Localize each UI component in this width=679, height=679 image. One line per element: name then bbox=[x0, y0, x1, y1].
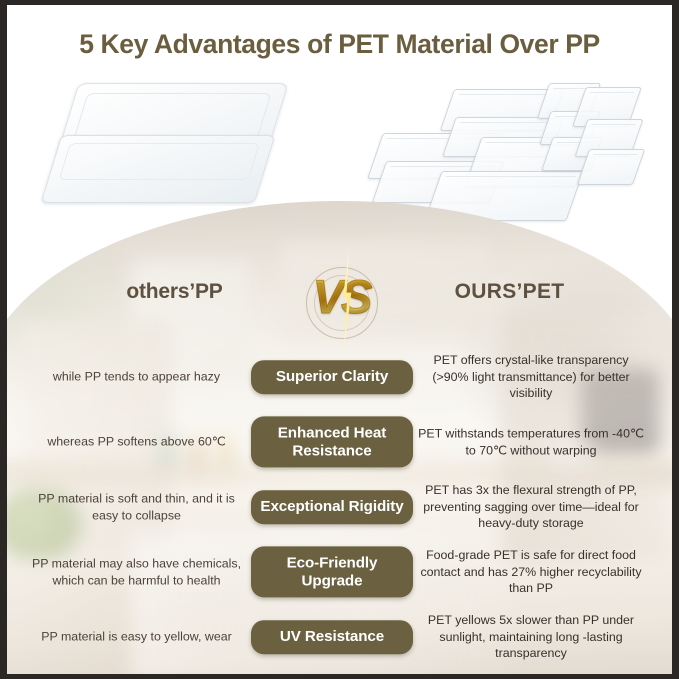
feature-pill-eco-friendly-upgrade[interactable]: Eco-Friendly Upgrade bbox=[251, 546, 413, 597]
comparison-table: while PP tends to appear hazy Superior C… bbox=[7, 345, 672, 670]
pet-description: PET offers crystal-like transparency (>9… bbox=[417, 352, 645, 402]
table-row: PP material is soft and thin, and it is … bbox=[7, 475, 672, 539]
organizer-bin bbox=[577, 149, 645, 185]
table-row: PP material is easy to yellow, wear UV R… bbox=[7, 605, 672, 669]
versus-header: others’PP VS OURS’PET bbox=[7, 280, 672, 324]
infographic-frame: 5 Key Advantages of PET Material Over PP bbox=[0, 0, 679, 679]
pet-organizer-set-image bbox=[375, 75, 655, 211]
feature-pill-exceptional-rigidity[interactable]: Exceptional Rigidity bbox=[251, 490, 413, 524]
feature-pill-enhanced-heat-resistance[interactable]: Enhanced Heat Resistance bbox=[251, 416, 413, 467]
container-base-shape bbox=[41, 135, 276, 203]
pp-container-stack-image bbox=[45, 77, 305, 207]
column-heading-pp: others’PP bbox=[67, 280, 282, 304]
pp-description: whereas PP softens above 60℃ bbox=[29, 434, 244, 451]
page-title: 5 Key Advantages of PET Material Over PP bbox=[7, 29, 672, 60]
versus-label: VS bbox=[290, 269, 392, 324]
pet-description: PET has 3x the flexural strength of PP, … bbox=[417, 482, 645, 532]
table-row: PP material may also have chemicals, whi… bbox=[7, 540, 672, 604]
feature-pill-uv-resistance[interactable]: UV Resistance bbox=[251, 620, 413, 654]
pet-description: PET yellows 5x slower than PP under sunl… bbox=[417, 612, 645, 662]
pp-description: while PP tends to appear hazy bbox=[29, 369, 244, 386]
pet-description: Food-grade PET is safe for direct food c… bbox=[417, 547, 645, 597]
table-row: whereas PP softens above 60℃ Enhanced He… bbox=[7, 410, 672, 474]
versus-badge: VS bbox=[290, 257, 392, 349]
infographic-canvas: 5 Key Advantages of PET Material Over PP bbox=[7, 5, 672, 674]
column-heading-pet: OURS’PET bbox=[402, 280, 617, 304]
pet-description: PET withstands temperatures from -40℃ to… bbox=[417, 425, 645, 458]
pp-description: PP material is soft and thin, and it is … bbox=[29, 490, 244, 523]
pp-description: PP material may also have chemicals, whi… bbox=[29, 555, 244, 588]
pp-description: PP material is easy to yellow, wear bbox=[29, 629, 244, 646]
feature-pill-superior-clarity[interactable]: Superior Clarity bbox=[251, 360, 413, 394]
table-row: while PP tends to appear hazy Superior C… bbox=[7, 345, 672, 409]
